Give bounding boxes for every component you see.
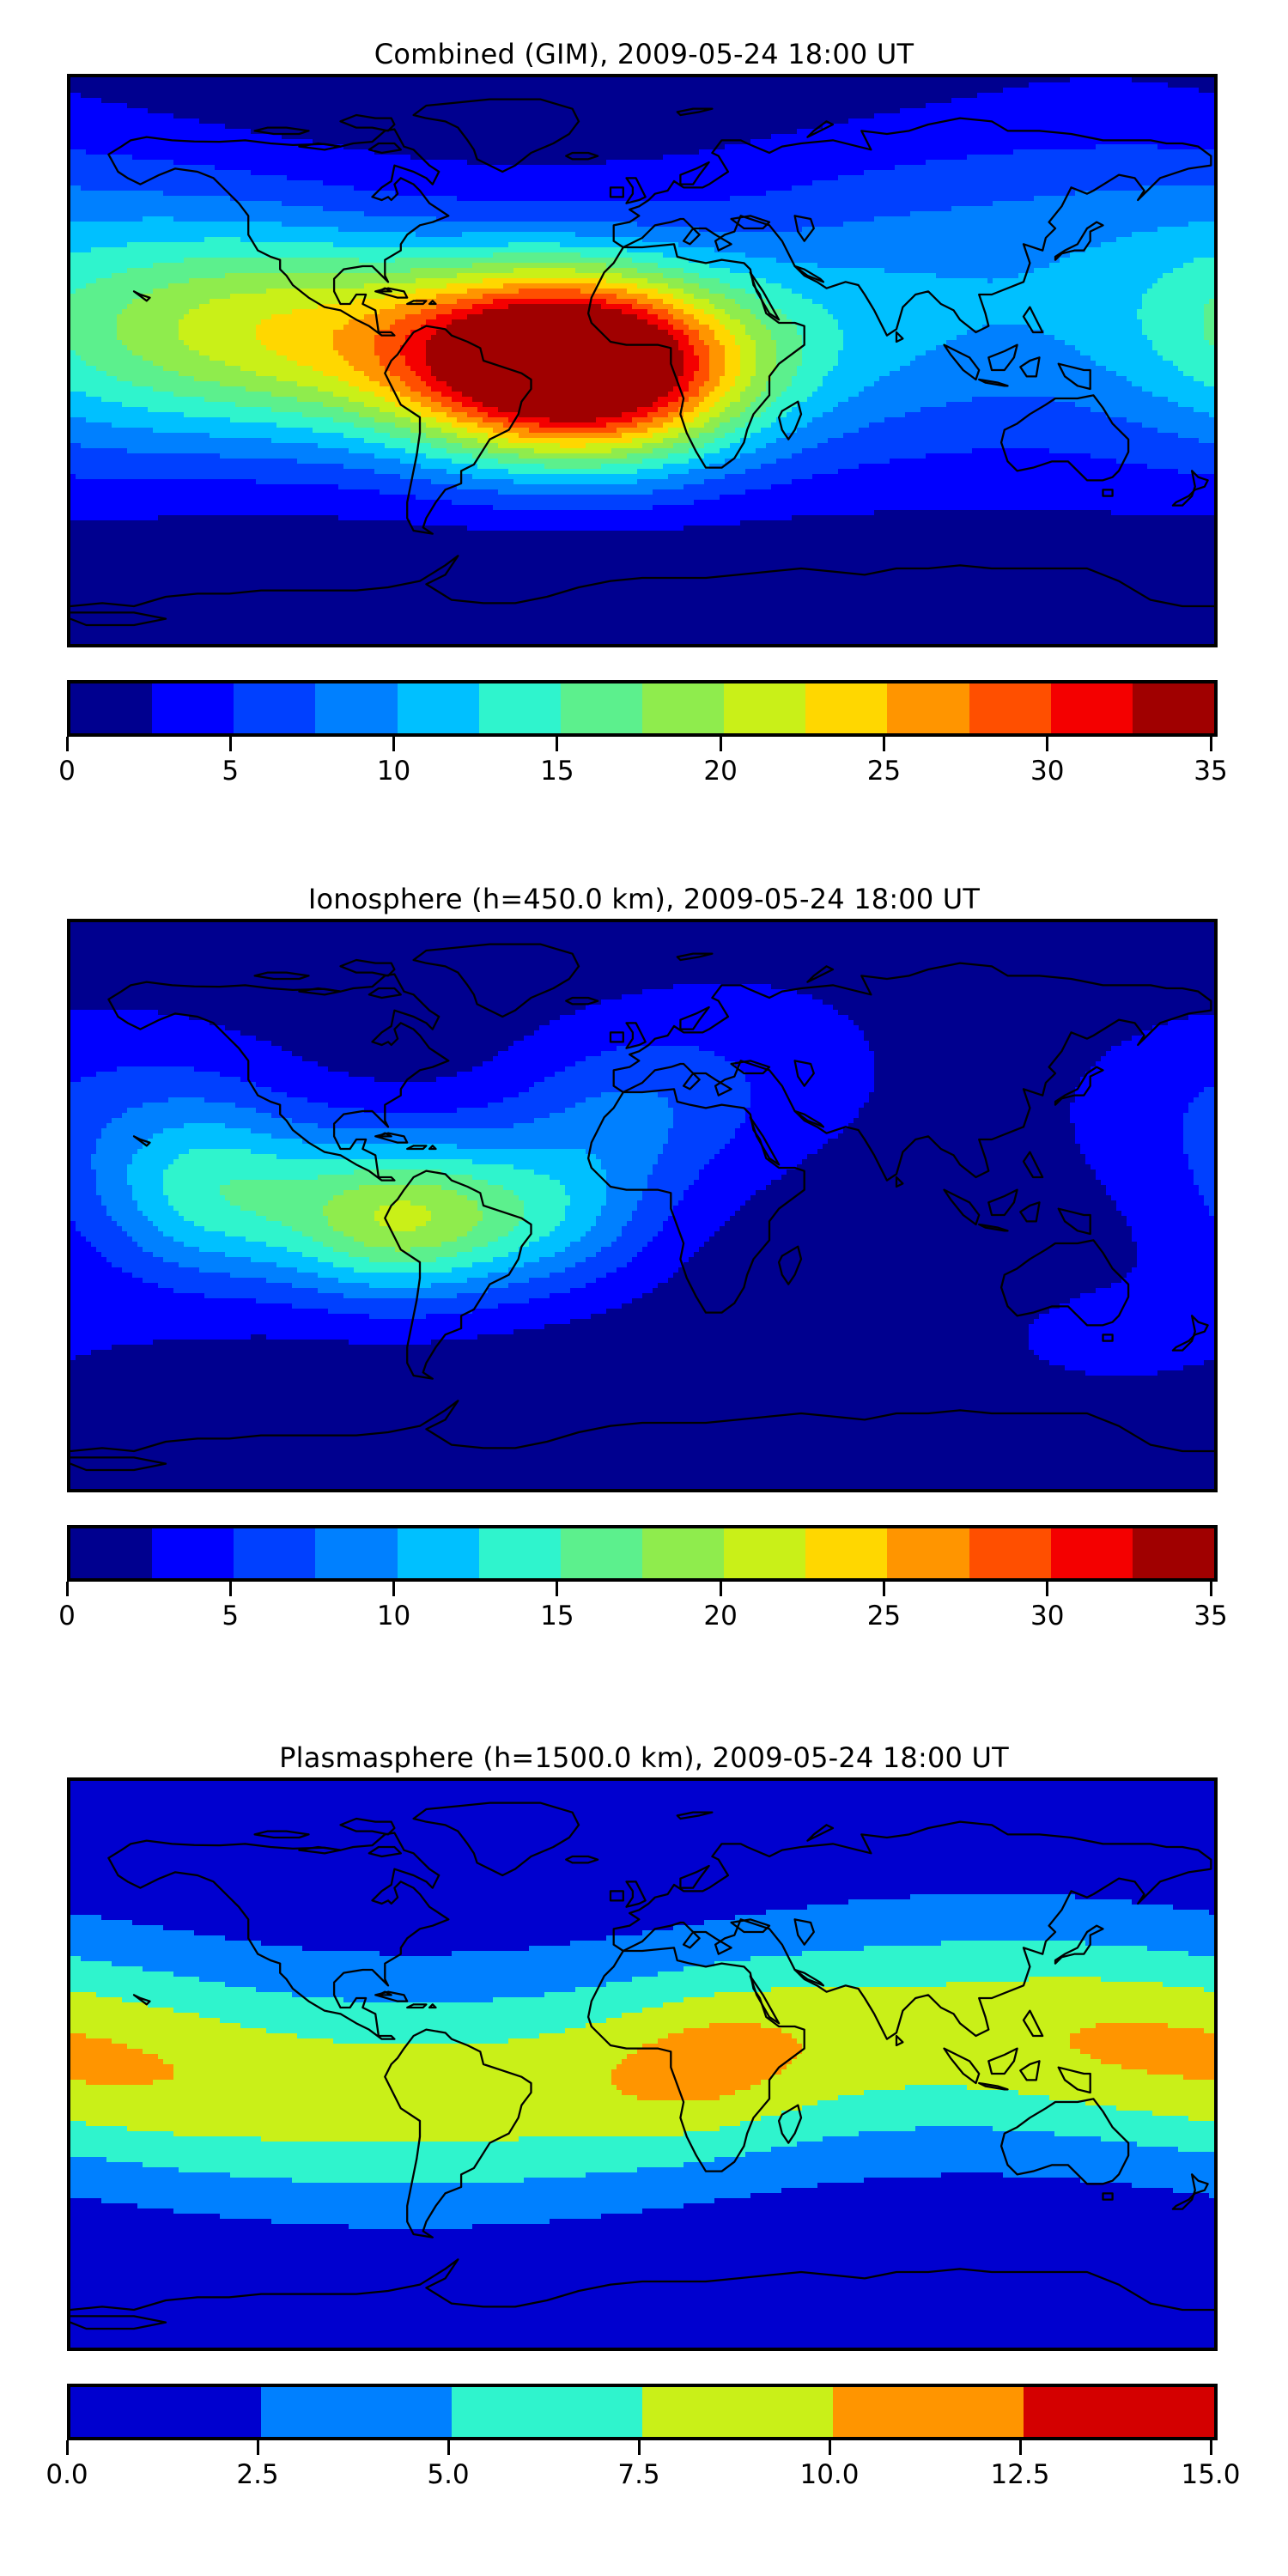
colorbar-band: [887, 1528, 969, 1578]
colorbar-tick-label: 0.0: [46, 2458, 88, 2492]
colorbar-band: [70, 683, 152, 733]
colorbar-tick-mark: [883, 1582, 885, 1596]
colorbar-band: [642, 2387, 833, 2437]
colorbar-band: [642, 683, 724, 733]
colorbar-tick-label: 10: [377, 754, 410, 788]
colorbar-tick-label: 15: [540, 754, 574, 788]
colorbar-tick-mark: [447, 2440, 450, 2455]
colorbar-tick-label: 35: [1194, 1599, 1227, 1633]
colorbar-tick-label: 15.0: [1181, 2458, 1240, 2492]
map-axes-combined-gim[interactable]: [67, 74, 1218, 647]
colorbar-band: [969, 1528, 1051, 1578]
colorbar-strip[interactable]: [67, 680, 1218, 737]
panel-title: Ionosphere (h=450.0 km), 2009-05-24 18:0…: [0, 883, 1288, 915]
colorbar-tick-mark: [1210, 2440, 1212, 2455]
coastline-overlay: [70, 922, 1214, 1489]
colorbar-band: [561, 683, 642, 733]
colorbar-tick-mark: [883, 737, 885, 751]
colorbar-band: [1051, 683, 1133, 733]
colorbar-band: [1133, 1528, 1214, 1578]
colorbar-tick-label: 5: [222, 754, 239, 788]
colorbar-band: [152, 683, 234, 733]
colorbar-tick-label: 30: [1030, 1599, 1064, 1633]
colorbar-tick-mark: [1210, 737, 1212, 751]
map-inner: [70, 1781, 1214, 2348]
colorbar-ticks: [64, 737, 1214, 754]
colorbar-tick-mark: [229, 737, 232, 751]
colorbar-band: [70, 1528, 152, 1578]
colorbar-tick-label: 35: [1194, 754, 1227, 788]
colorbar-tick-label: 30: [1030, 754, 1064, 788]
colorbar-tick-label: 10: [377, 1599, 410, 1633]
colorbar-band: [1024, 2387, 1214, 2437]
colorbar-tick-mark: [556, 737, 558, 751]
colorbar-band: [479, 1528, 561, 1578]
colorbar-band: [152, 1528, 234, 1578]
colorbar-tick-label: 2.5: [236, 2458, 278, 2492]
colorbar-band: [969, 683, 1051, 733]
colorbar-band: [1051, 1528, 1133, 1578]
colorbar-tick-labels: 05101520253035: [64, 754, 1214, 792]
colorbar-tick-labels: 0.02.55.07.510.012.515.0: [64, 2458, 1214, 2495]
colorbar-tick-label: 25: [867, 1599, 901, 1633]
colorbar-band: [398, 683, 479, 733]
colorbar-band: [642, 1528, 724, 1578]
colorbar-strip[interactable]: [67, 1525, 1218, 1582]
map-axes-plasmasphere-1500km[interactable]: [67, 1777, 1218, 2351]
colorbar-band: [479, 683, 561, 733]
colorbar-band: [234, 1528, 315, 1578]
colorbar-band: [452, 2387, 642, 2437]
map-axes-ionosphere-450km[interactable]: [67, 919, 1218, 1492]
colorbar-band: [234, 683, 315, 733]
colorbar-tick-mark: [720, 737, 722, 751]
colorbar-strip[interactable]: [67, 2384, 1218, 2440]
colorbar-band: [1133, 683, 1214, 733]
colorbar-tick-mark: [1046, 1582, 1048, 1596]
coastline-overlay: [70, 77, 1214, 644]
colorbar-tick-mark: [829, 2440, 831, 2455]
coastline-overlay: [70, 1781, 1214, 2348]
colorbar-band: [805, 1528, 887, 1578]
map-inner: [70, 77, 1214, 644]
colorbar-band: [724, 683, 805, 733]
colorbar-band: [724, 1528, 805, 1578]
colorbar-ionosphere-450km[interactable]: 05101520253035: [67, 1525, 1211, 1637]
colorbar-tick-mark: [1019, 2440, 1022, 2455]
colorbar-tick-label: 0: [58, 754, 76, 788]
colorbar-tick-labels: 05101520253035: [64, 1599, 1214, 1637]
colorbar-tick-label: 12.5: [990, 2458, 1049, 2492]
colorbar-tick-label: 5: [222, 1599, 239, 1633]
colorbar-tick-mark: [556, 1582, 558, 1596]
colorbar-combined-gim[interactable]: 05101520253035: [67, 680, 1211, 792]
colorbar-tick-mark: [720, 1582, 722, 1596]
colorbar-tick-label: 15: [540, 1599, 574, 1633]
colorbar-tick-label: 5.0: [427, 2458, 469, 2492]
colorbar-tick-label: 7.5: [617, 2458, 659, 2492]
colorbar-tick-mark: [66, 2440, 69, 2455]
colorbar-band: [887, 683, 969, 733]
colorbar-band: [805, 683, 887, 733]
colorbar-plasmasphere-1500km[interactable]: 0.02.55.07.510.012.515.0: [67, 2384, 1211, 2495]
colorbar-band: [70, 2387, 261, 2437]
colorbar-tick-mark: [229, 1582, 232, 1596]
colorbar-tick-mark: [66, 737, 69, 751]
panel-title: Plasmasphere (h=1500.0 km), 2009-05-24 1…: [0, 1741, 1288, 1774]
colorbar-tick-label: 0: [58, 1599, 76, 1633]
colorbar-ticks: [64, 1582, 1214, 1599]
colorbar-tick-label: 25: [867, 754, 901, 788]
colorbar-tick-label: 20: [703, 754, 737, 788]
colorbar-tick-mark: [1046, 737, 1048, 751]
colorbar-band: [833, 2387, 1024, 2437]
map-inner: [70, 922, 1214, 1489]
colorbar-band: [315, 1528, 397, 1578]
colorbar-tick-mark: [66, 1582, 69, 1596]
colorbar-band: [398, 1528, 479, 1578]
panel-title: Combined (GIM), 2009-05-24 18:00 UT: [0, 38, 1288, 70]
colorbar-tick-mark: [638, 2440, 641, 2455]
colorbar-tick-mark: [392, 1582, 395, 1596]
colorbar-tick-label: 10.0: [799, 2458, 859, 2492]
tec-map-figure: Combined (GIM), 2009-05-24 18:00 UT 0510…: [0, 0, 1288, 2576]
colorbar-tick-mark: [1210, 1582, 1212, 1596]
colorbar-band: [261, 2387, 452, 2437]
colorbar-tick-mark: [257, 2440, 259, 2455]
colorbar-band: [315, 683, 397, 733]
colorbar-band: [561, 1528, 642, 1578]
colorbar-tick-label: 20: [703, 1599, 737, 1633]
colorbar-ticks: [64, 2440, 1214, 2458]
colorbar-tick-mark: [392, 737, 395, 751]
